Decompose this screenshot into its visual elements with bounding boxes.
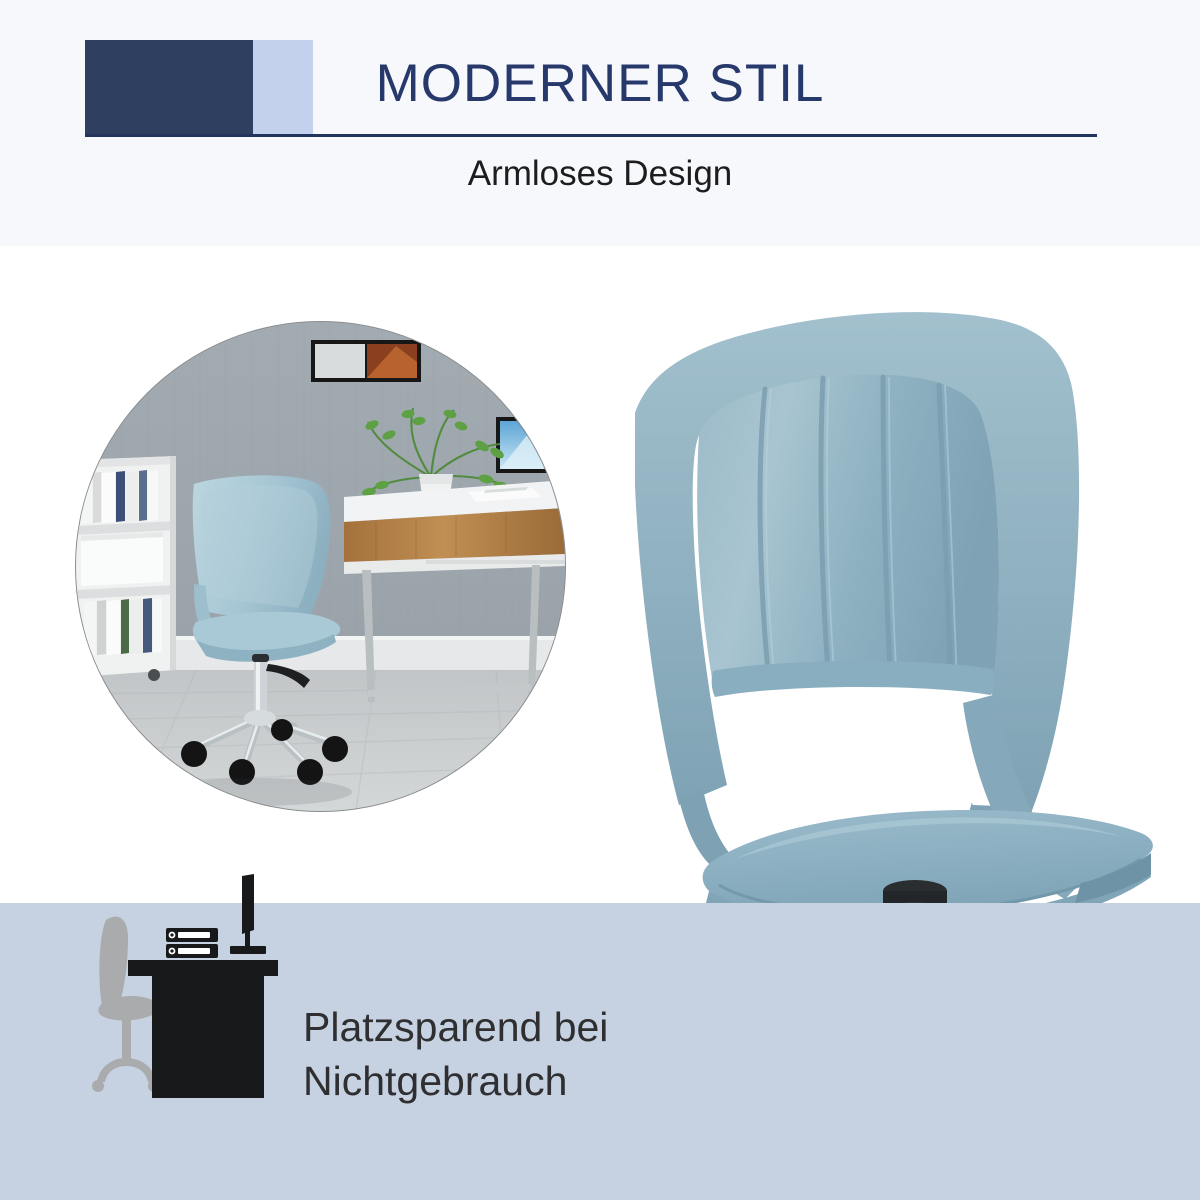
bookshelf xyxy=(76,456,176,684)
feature-text: Platzsparend bei Nichtgebrauch xyxy=(303,1000,763,1108)
header-band: MODERNER STIL Armloses Design xyxy=(0,0,1200,246)
product-infographic: MODERNER STIL Armloses Design xyxy=(0,0,1200,1200)
feature-text-line2: Nichtgebrauch xyxy=(303,1054,763,1108)
page-subtitle: Armloses Design xyxy=(0,153,1200,195)
page-title: MODERNER STIL xyxy=(0,53,1200,115)
monitor-icon xyxy=(230,874,266,954)
room-scene-circle xyxy=(76,322,565,811)
wall-picture xyxy=(311,340,421,382)
header-divider-rule xyxy=(85,134,1097,137)
desk-with-chair-glyph xyxy=(90,872,310,1100)
feature-text-line1: Platzsparend bei xyxy=(303,1000,763,1054)
desk-with-chair-icon xyxy=(90,872,310,1100)
room-scene-illustration xyxy=(76,322,565,811)
monitor xyxy=(528,426,565,478)
binders-icon xyxy=(166,928,218,958)
